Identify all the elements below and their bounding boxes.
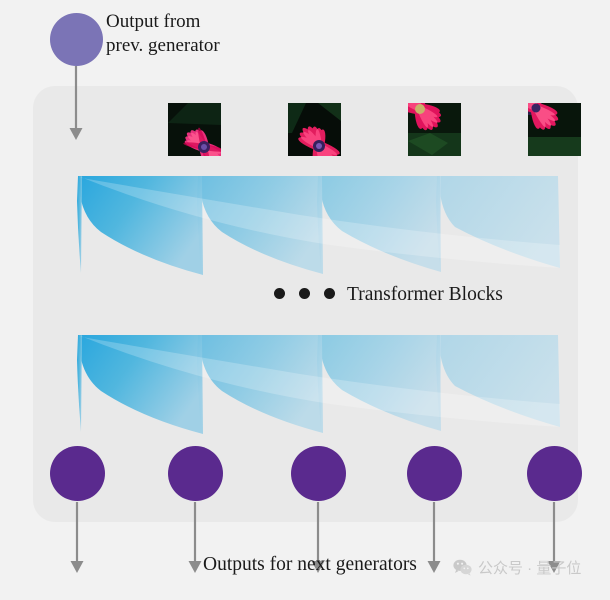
output-node-circle-2	[168, 446, 223, 501]
outputs-label: Outputs for next generators	[203, 553, 417, 578]
wechat-icon	[453, 559, 472, 576]
transformer-blocks-label: Transformer Blocks	[347, 283, 503, 308]
figure-canvas: Output from prev. generator Transformer …	[0, 0, 610, 600]
output-node-circle-3	[291, 446, 346, 501]
flower-thumbnail-3	[408, 103, 461, 156]
ellipsis-dot-3	[324, 288, 335, 299]
output-node-circle-1	[50, 446, 105, 501]
ellipsis-dots	[274, 288, 336, 300]
ellipsis-dot-1	[274, 288, 285, 299]
flower-thumbnail-2	[288, 103, 341, 156]
input-label-line-1: Output from	[106, 10, 220, 34]
input-label: Output from prev. generator	[106, 10, 220, 59]
output-node-circle-4	[407, 446, 462, 501]
watermark: 公众号 · 量子位	[453, 557, 581, 578]
input-node-circle	[50, 13, 103, 66]
ellipsis-dot-2	[299, 288, 310, 299]
input-label-line-2: prev. generator	[106, 34, 220, 58]
flower-thumbnail-4	[528, 103, 581, 156]
output-node-circle-5	[527, 446, 582, 501]
watermark-text: 公众号 · 量子位	[478, 557, 581, 578]
flower-thumbnail-1	[168, 103, 221, 156]
